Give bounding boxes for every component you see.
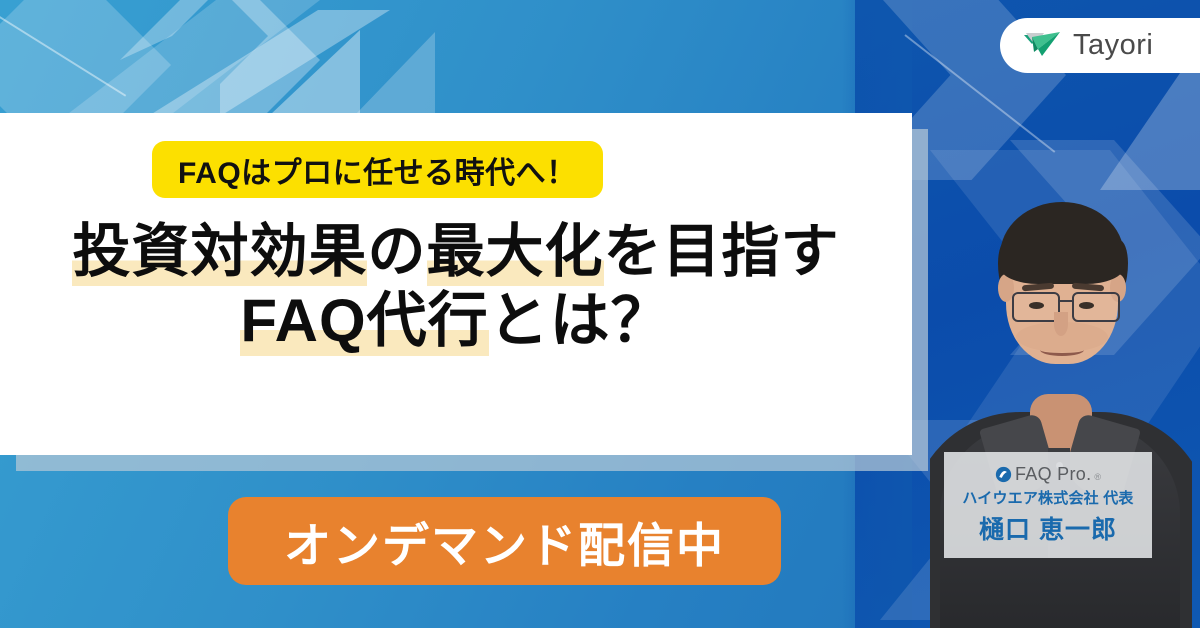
faq-pro-swirl-icon (995, 466, 1012, 483)
ondemand-cta-button[interactable]: オンデマンド配信中 (228, 497, 781, 585)
glasses-lens-left (1012, 292, 1060, 322)
speaker-name-plate: FAQ Pro. ® ハイウエア株式会社 代表 樋口 恵一郎 (944, 452, 1152, 558)
headline-line-2: FAQ代行とは？ (0, 286, 912, 357)
tagline-badge-label: FAQはプロに任せる時代へ！ (178, 148, 577, 192)
headline-text-suffix: を目指す (604, 219, 840, 284)
nose (1054, 312, 1068, 336)
tayori-wordmark: Tayori (1073, 29, 1153, 62)
headline-text-suffix-2: とは？ (489, 287, 672, 354)
speaker-name: 樋口 恵一郎 (979, 510, 1117, 546)
mouth (1040, 344, 1084, 356)
speaker-photo (930, 162, 1192, 628)
glasses-bridge (1058, 300, 1072, 302)
faq-pro-trademark: ® (1094, 472, 1101, 485)
paper-plane-envelope-icon (1022, 29, 1062, 63)
speaker-company: ハイウエア株式会社 代表 (962, 487, 1133, 508)
headline: 投資対効果の最大化を目指す FAQ代行とは？ (0, 218, 912, 357)
headline-marker-1: 投資対効果 (72, 219, 367, 286)
faq-pro-logo-text: FAQ Pro. (1015, 464, 1091, 485)
headline-marker-2: 最大化 (427, 219, 604, 286)
tayori-logo[interactable]: Tayori (1000, 18, 1200, 73)
headline-marker-3: FAQ代行 (240, 287, 488, 356)
tagline-badge: FAQはプロに任せる時代へ！ (152, 141, 603, 198)
ondemand-cta-label: オンデマンド配信中 (284, 507, 725, 576)
promo-banner: FAQはプロに任せる時代へ！ 投資対効果の最大化を目指す FAQ代行とは？ オン… (0, 0, 1200, 628)
glasses-lens-right (1072, 292, 1120, 322)
headline-line-1: 投資対効果の最大化を目指す (0, 218, 912, 286)
headline-text-mid: の (367, 219, 426, 284)
faq-pro-logo: FAQ Pro. ® (995, 464, 1101, 485)
hair (1000, 202, 1124, 284)
